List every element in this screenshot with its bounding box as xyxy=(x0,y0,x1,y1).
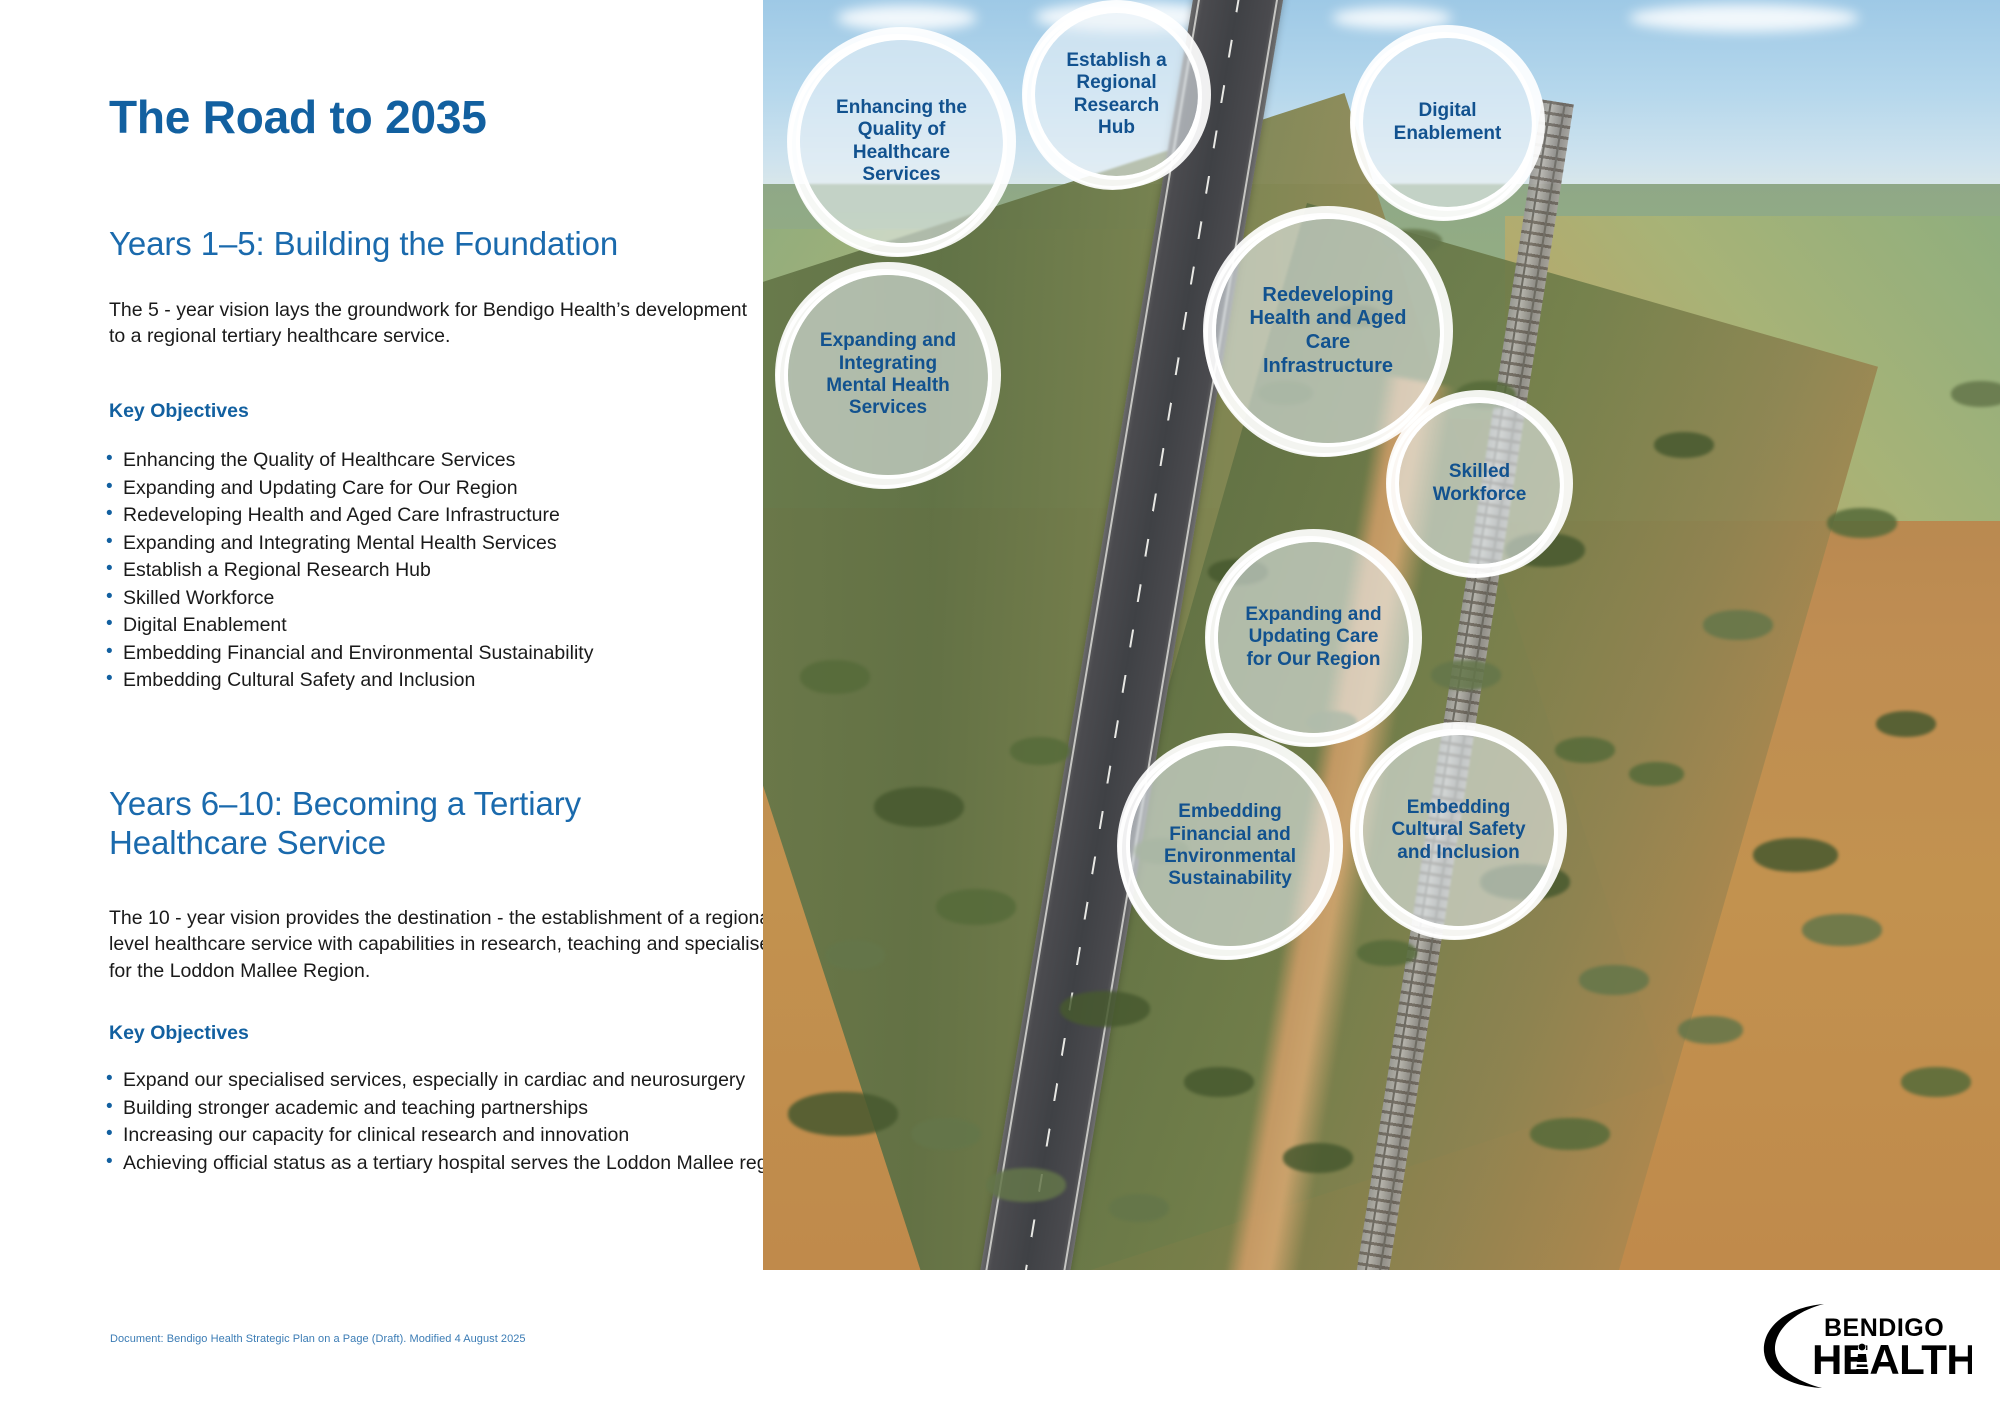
section-1-heading: Years 1–5: Building the Foundation xyxy=(109,225,618,264)
tree-clump xyxy=(1827,508,1897,538)
tree-clump xyxy=(1678,1016,1743,1044)
section-1-objectives-label: Key Objectives xyxy=(109,400,249,423)
objective-list-item: Building stronger academic and teaching … xyxy=(106,1096,806,1122)
tree-clump xyxy=(788,1092,898,1136)
section-2-heading: Years 6–10: Becoming a Tertiary Healthca… xyxy=(109,785,709,863)
cloud-icon xyxy=(837,5,977,31)
objective-bubble[interactable]: Establish a Regional Research Hub xyxy=(1035,13,1198,176)
tree-clump xyxy=(1109,1194,1169,1222)
objective-bubble-label: Enhancing the Quality of Healthcare Serv… xyxy=(800,97,1003,187)
tree-clump xyxy=(1555,737,1615,763)
objective-bubble[interactable]: Enhancing the Quality of Healthcare Serv… xyxy=(800,40,1003,243)
tree-clump xyxy=(986,1168,1066,1202)
objective-list-item: Expand our specialised services, especia… xyxy=(106,1068,806,1094)
bendigo-health-logo: BENDIGO HEALTH xyxy=(1762,1296,1972,1392)
objective-list-item: Enhancing the Quality of Healthcare Serv… xyxy=(106,448,746,474)
objective-bubble[interactable]: Digital Enablement xyxy=(1363,38,1532,207)
section-1-objectives-list: Enhancing the Quality of Healthcare Serv… xyxy=(106,448,746,696)
tree-clump xyxy=(1184,1067,1254,1097)
section-2-paragraph: The 10 - year vision provides the destin… xyxy=(109,905,869,984)
objective-bubble-label: Skilled Workforce xyxy=(1399,461,1560,506)
objective-list-item: Achieving official status as a tertiary … xyxy=(106,1151,806,1177)
tree-clump xyxy=(1802,914,1882,946)
tree-clump xyxy=(1530,1118,1610,1150)
objective-bubble[interactable]: Skilled Workforce xyxy=(1399,403,1560,564)
tree-clump xyxy=(800,660,870,694)
objective-list-item: Digital Enablement xyxy=(106,613,746,639)
section-2-objectives-list: Expand our specialised services, especia… xyxy=(106,1068,806,1178)
page-title: The Road to 2035 xyxy=(109,93,487,141)
strategic-plan-page: The Road to 2035 Years 1–5: Building the… xyxy=(0,0,2000,1414)
tree-clump xyxy=(1283,1143,1353,1173)
left-text-column: The Road to 2035 Years 1–5: Building the… xyxy=(0,0,763,1414)
tree-clump xyxy=(1876,711,1936,737)
aerial-photo-panel: Enhancing the Quality of Healthcare Serv… xyxy=(763,0,2000,1270)
tree-clump xyxy=(1629,762,1684,786)
tree-clump xyxy=(1654,432,1714,458)
tree-clump xyxy=(1703,610,1773,640)
tree-clump xyxy=(825,940,885,970)
objective-list-item: Skilled Workforce xyxy=(106,586,746,612)
tree-clump xyxy=(1901,1067,1971,1097)
svg-text:HEALTH: HEALTH xyxy=(1812,1336,1972,1383)
tree-clump xyxy=(1579,965,1649,995)
objective-bubble[interactable]: Embedding Cultural Safety and Inclusion xyxy=(1363,735,1554,926)
objective-bubble-label: Redeveloping Health and Aged Care Infras… xyxy=(1216,284,1440,378)
tree-clump xyxy=(1357,940,1417,966)
section-2-objectives-label: Key Objectives xyxy=(109,1022,249,1045)
cloud-icon xyxy=(1332,7,1452,29)
objective-list-item: Embedding Financial and Environmental Su… xyxy=(106,641,746,667)
tree-clump xyxy=(1060,991,1150,1027)
objective-bubble-label: Embedding Financial and Environmental Su… xyxy=(1130,801,1330,891)
document-footnote: Document: Bendigo Health Strategic Plan … xyxy=(110,1333,526,1345)
tree-clump xyxy=(1431,660,1501,690)
tree-clump xyxy=(1753,838,1838,872)
objective-list-item: Redeveloping Health and Aged Care Infras… xyxy=(106,503,746,529)
objective-list-item: Expanding and Updating Care for Our Regi… xyxy=(106,476,746,502)
tree-clump xyxy=(911,1118,981,1150)
objective-bubble[interactable]: Expanding and Integrating Mental Health … xyxy=(788,275,988,475)
objective-bubble-label: Expanding and Updating Care for Our Regi… xyxy=(1218,604,1409,671)
objective-list-item: Embedding Cultural Safety and Inclusion xyxy=(106,668,746,694)
objective-bubble-label: Expanding and Integrating Mental Health … xyxy=(788,330,988,420)
section-1-paragraph: The 5 - year vision lays the groundwork … xyxy=(109,297,759,350)
objective-list-item: Increasing our capacity for clinical res… xyxy=(106,1123,806,1149)
objective-bubble[interactable]: Embedding Financial and Environmental Su… xyxy=(1130,746,1330,946)
tree-clump xyxy=(1951,381,2000,407)
tree-clump xyxy=(1010,737,1070,765)
objective-bubble-label: Embedding Cultural Safety and Inclusion xyxy=(1363,797,1554,864)
tree-clump xyxy=(874,787,964,827)
objective-bubble[interactable]: Expanding and Updating Care for Our Regi… xyxy=(1218,542,1409,733)
cloud-icon xyxy=(1629,4,1859,32)
objective-bubble-label: Digital Enablement xyxy=(1363,100,1532,145)
tree-clump xyxy=(936,889,1016,925)
objective-list-item: Establish a Regional Research Hub xyxy=(106,558,746,584)
objective-bubble-label: Establish a Regional Research Hub xyxy=(1035,50,1198,140)
objective-bubble[interactable]: Redeveloping Health and Aged Care Infras… xyxy=(1216,219,1440,443)
objective-list-item: Expanding and Integrating Mental Health … xyxy=(106,531,746,557)
